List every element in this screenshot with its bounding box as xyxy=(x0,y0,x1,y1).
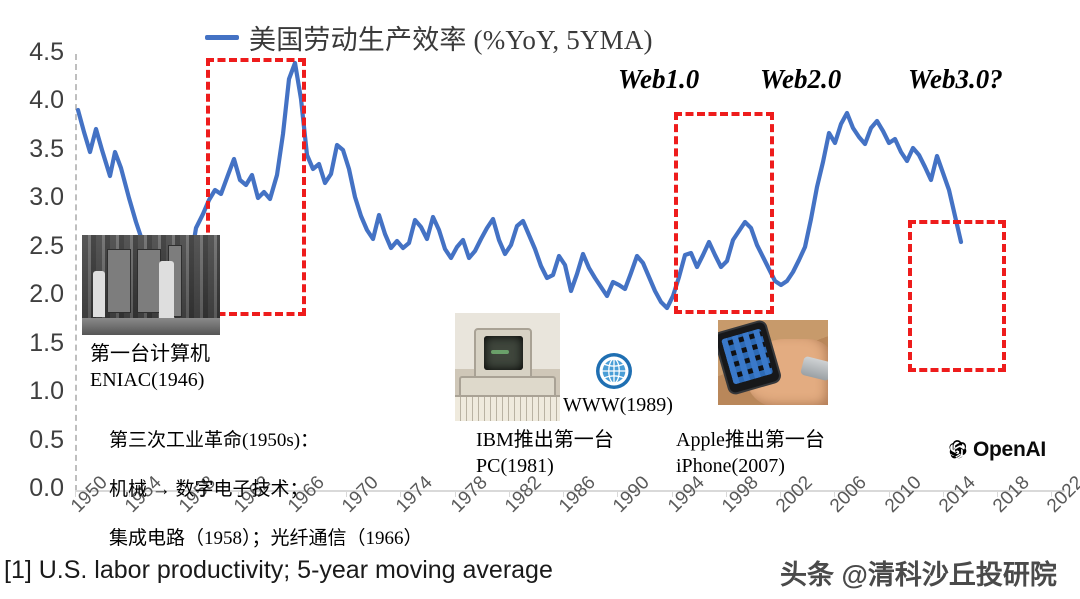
iphone-photo xyxy=(718,320,828,405)
ibm-pc-caption: IBM推出第一台 PC(1981) xyxy=(476,428,614,479)
www-caption: WWW(1989) xyxy=(563,393,673,419)
eniac-photo xyxy=(82,235,220,335)
third-industrial-revolution-note: 第三次工业革命(1950s)： 机械 → 数字电子技术； 集成电路（1958）；… xyxy=(90,405,423,575)
openai-knot-icon xyxy=(945,438,969,462)
globe-icon xyxy=(595,352,633,390)
watermark: 头条 @清科沙丘投研院 xyxy=(780,553,1057,592)
chart-canvas: 美国劳动生产效率 (%YoY, 5YMA) Web1.0 Web2.0 Web3… xyxy=(0,0,1080,599)
openai-wordmark: OpenAI xyxy=(973,438,1046,462)
highlight-box-2000s xyxy=(674,112,774,314)
tir-line-3: 集成电路（1958）；光纤通信（1966） xyxy=(109,528,423,549)
openai-logo: OpenAI xyxy=(945,438,1046,462)
highlight-box-1960s xyxy=(206,58,306,316)
eniac-caption: 第一台计算机 ENIAC(1946) xyxy=(90,342,210,393)
highlight-box-2020s xyxy=(908,220,1006,372)
tir-line-2: 机械 → 数字电子技术； xyxy=(109,479,309,500)
footnote: [1] U.S. labor productivity; 5-year movi… xyxy=(4,556,553,585)
iphone-caption: Apple推出第一台 iPhone(2007) xyxy=(676,428,825,479)
tir-line-1: 第三次工业革命(1950s)： xyxy=(109,430,319,451)
ibm-pc-photo xyxy=(455,313,560,421)
